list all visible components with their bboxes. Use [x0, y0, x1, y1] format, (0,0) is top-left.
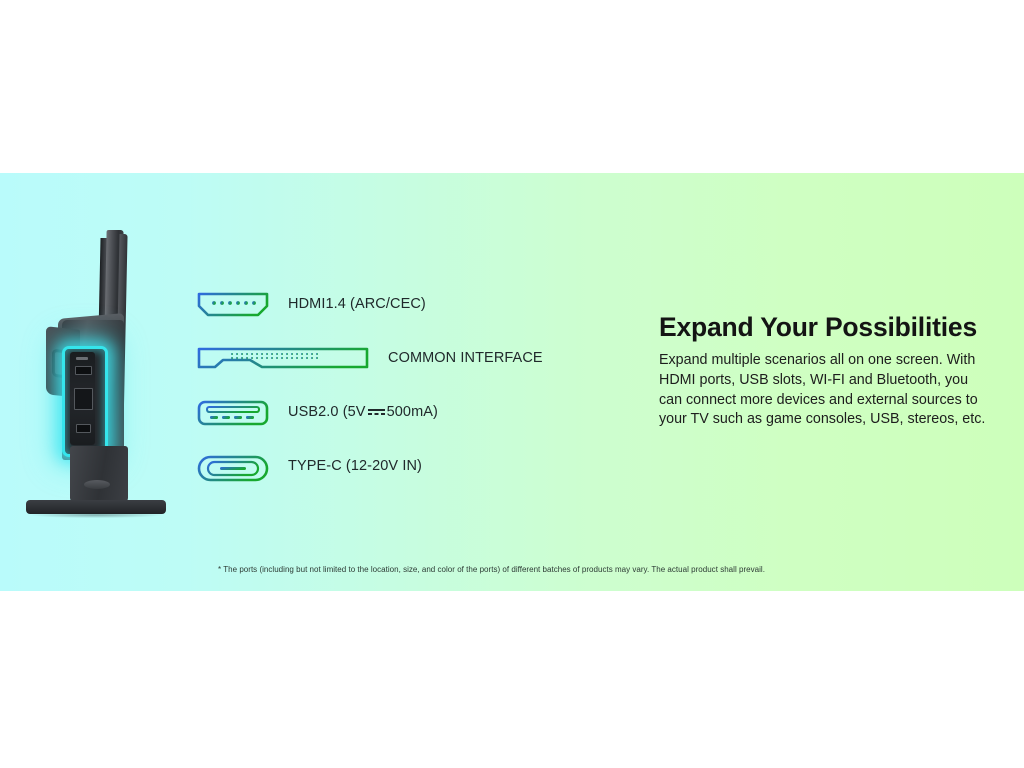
port-row-type-c: TYPE-C (12-20V IN): [196, 452, 616, 506]
tv-product-image: [18, 228, 183, 528]
dc-power-symbol-icon: [368, 406, 385, 417]
tv-drop-shadow: [30, 512, 162, 518]
tv-usb-socket: [76, 424, 91, 433]
common-interface-port-icon: [196, 344, 370, 379]
product-feature-banner: HDMI1.4 (ARC/CEC): [0, 173, 1024, 591]
tv-port-marking: [76, 357, 88, 360]
port-row-hdmi: HDMI1.4 (ARC/CEC): [196, 290, 616, 344]
usb-port-icon: [196, 398, 270, 433]
tv-hdmi-socket: [75, 366, 92, 375]
port-label-usb: USB2.0 (5V500mA): [288, 404, 438, 420]
hdmi-port-icon: [196, 290, 270, 325]
body-copy: Expand multiple scenarios all on one scr…: [659, 351, 989, 430]
port-label-common-interface: COMMON INTERFACE: [388, 350, 543, 366]
tv-stand-neck: [70, 446, 128, 502]
port-row-usb: USB2.0 (5V500mA): [196, 398, 616, 452]
port-label-hdmi: HDMI1.4 (ARC/CEC): [288, 296, 426, 312]
port-label-usb-suffix: 500mA): [387, 404, 438, 420]
port-label-usb-prefix: USB2.0 (5V: [288, 404, 366, 420]
port-legend-list: HDMI1.4 (ARC/CEC): [196, 290, 616, 506]
disclaimer-text: * The ports (including but not limited t…: [218, 565, 765, 574]
tv-stand-emblem: [84, 480, 110, 489]
type-c-port-icon: [196, 452, 270, 489]
port-label-type-c: TYPE-C (12-20V IN): [288, 458, 422, 474]
tv-common-interface-socket: [74, 388, 93, 410]
headline: Expand Your Possibilities: [659, 313, 989, 342]
marketing-copy-block: Expand Your Possibilities Expand multipl…: [659, 313, 989, 430]
port-row-common-interface: COMMON INTERFACE: [196, 344, 616, 398]
page-root: HDMI1.4 (ARC/CEC): [0, 0, 1024, 768]
